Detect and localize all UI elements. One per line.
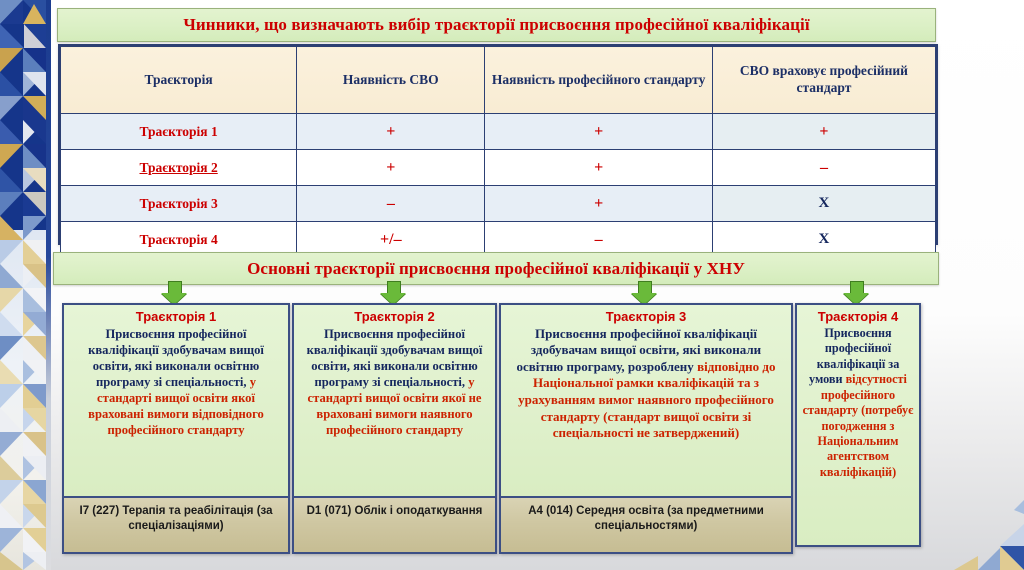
factors-table: Траєкторія Наявність СВО Наявність профе… (60, 46, 936, 258)
trajectory-card-4-title: Траєкторія 4 (802, 309, 914, 325)
trajectory-label: Траєкторія 2 (139, 160, 217, 175)
trajectory-card-4: Траєкторія 4 Присвоєння професійної квал… (795, 303, 921, 547)
trajectory-card-3: Траєкторія 3 Присвоєння професійної квал… (499, 303, 793, 554)
table-header-row: Траєкторія Наявність СВО Наявність профе… (61, 47, 936, 114)
cell-svo-2: + (297, 150, 485, 186)
cell-accounts-1: + (712, 114, 935, 150)
trajectory-card-1-text: Присвоєння професійної кваліфікації здоб… (69, 326, 283, 439)
down-arrow-icon-4 (843, 281, 869, 305)
down-arrow-icon-1 (161, 281, 187, 305)
trajectory-card-4-body: Траєкторія 4 Присвоєння професійної квал… (797, 305, 919, 545)
decorative-left-band (0, 0, 46, 570)
table-row: Траєкторія 3 – + X (61, 186, 936, 222)
col-header-prof-standard: Наявність професійного стандарту (485, 47, 713, 114)
slide-canvas: Чинники, що визначають вибір траєкторії … (0, 0, 1024, 570)
cell-svo-3: – (297, 186, 485, 222)
card-4-text-red: відсутності професійного стандарту (потр… (803, 372, 914, 479)
trajectory-card-1-footer: I7 (227) Терапія та реабілітація (за спе… (64, 496, 288, 552)
col-header-svo-accounts-prof: СВО враховує професійний стандарт (712, 47, 935, 114)
trajectory-card-2-title: Траєкторія 2 (299, 309, 490, 325)
factors-table-container: Траєкторія Наявність СВО Наявність профе… (58, 44, 938, 245)
col-header-svo-present: Наявність СВО (297, 47, 485, 114)
trajectory-card-3-text: Присвоєння професійної кваліфікації здоб… (506, 326, 786, 442)
trajectory-card-2: Траєкторія 2 Присвоєння професійної квал… (292, 303, 497, 554)
trajectory-card-1: Траєкторія 1 Присвоєння професійної квал… (62, 303, 290, 554)
cell-trajectory-3: Траєкторія 3 (61, 186, 297, 222)
cell-accounts-3: X (712, 186, 935, 222)
table-row: Траєкторія 2 + + – (61, 150, 936, 186)
cell-prof-2: + (485, 150, 713, 186)
trajectory-card-2-footer: D1 (071) Облік і оподаткування (294, 496, 495, 552)
trajectory-label: Траєкторія 3 (139, 196, 217, 211)
trajectory-card-1-title: Траєкторія 1 (69, 309, 283, 325)
table-row: Траєкторія 1 + + + (61, 114, 936, 150)
trajectory-card-2-body: Траєкторія 2 Присвоєння професійної квал… (294, 305, 495, 496)
down-arrow-icon-3 (631, 281, 657, 305)
col-header-trajectory: Траєкторія (61, 47, 297, 114)
banner-factors-title: Чинники, що визначають вибір траєкторії … (57, 8, 936, 42)
trajectory-card-2-text: Присвоєння професійної кваліфікації здоб… (299, 326, 490, 439)
banner-factors-text: Чинники, що визначають вибір траєкторії … (183, 15, 809, 35)
decorative-edge-strip (46, 0, 51, 570)
cell-trajectory-2: Траєкторія 2 (61, 150, 297, 186)
down-arrow-icon-2 (380, 281, 406, 305)
card-2-text-blue: Присвоєння професійної кваліфікації здоб… (307, 327, 483, 389)
cell-prof-3: + (485, 186, 713, 222)
decorative-corner-svg (954, 500, 1024, 570)
card-1-text-blue: Присвоєння професійної кваліфікації здоб… (88, 327, 264, 389)
trajectory-card-3-title: Траєкторія 3 (506, 309, 786, 325)
factors-table-body: Траєкторія 1 + + + Траєкторія 2 + + – Тр… (61, 114, 936, 258)
decorative-corner-bottom-right (954, 500, 1024, 570)
cell-prof-1: + (485, 114, 713, 150)
trajectory-label: Траєкторія 1 (139, 124, 217, 139)
cell-trajectory-1: Траєкторія 1 (61, 114, 297, 150)
trajectory-label: Траєкторія 4 (139, 232, 217, 247)
decorative-triangles-svg (0, 0, 46, 570)
trajectory-card-3-body: Траєкторія 3 Присвоєння професійної квал… (501, 305, 791, 496)
cell-svo-1: + (297, 114, 485, 150)
cell-accounts-2: – (712, 150, 935, 186)
trajectory-card-1-body: Траєкторія 1 Присвоєння професійної квал… (64, 305, 288, 496)
banner-main-trajectories-text: Основні траєкторії присвоєння професійно… (247, 259, 745, 279)
trajectory-card-4-text: Присвоєння професійної кваліфікації за у… (802, 326, 914, 481)
trajectory-card-3-footer: A4 (014) Середня освіта (за предметними … (501, 496, 791, 552)
